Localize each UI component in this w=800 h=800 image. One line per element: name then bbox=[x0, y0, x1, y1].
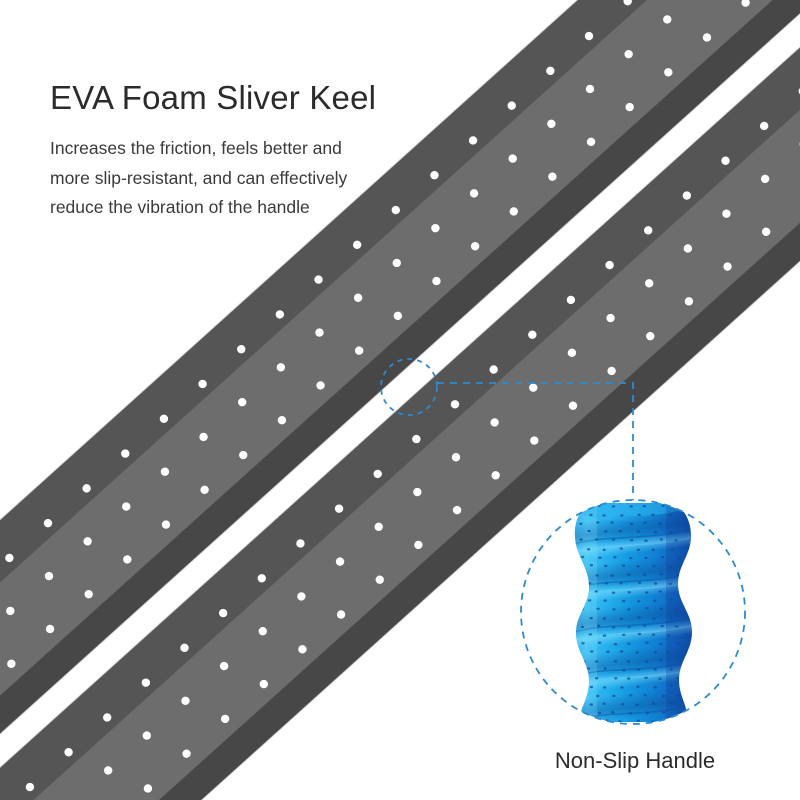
grip-pinhole bbox=[604, 565, 607, 567]
grip-pinhole bbox=[610, 521, 613, 523]
grip-pinhole bbox=[581, 505, 584, 507]
grip-pinhole bbox=[654, 582, 657, 584]
grip-pinhole bbox=[644, 557, 647, 559]
description-line-2: more slip-resistant, and can effectively bbox=[50, 164, 470, 194]
grip-pinhole bbox=[659, 608, 662, 610]
grip-pinhole bbox=[612, 538, 615, 540]
grip-pinhole bbox=[682, 668, 685, 670]
grip-pinhole bbox=[652, 617, 655, 619]
grip-pinhole bbox=[590, 617, 593, 619]
grip-pinhole bbox=[603, 686, 606, 688]
grip-pinhole bbox=[644, 694, 647, 696]
grip-pinhole bbox=[606, 651, 609, 653]
grip-pinhole bbox=[684, 599, 687, 601]
grip-pinhole bbox=[646, 712, 649, 714]
grip-pinhole bbox=[596, 608, 599, 610]
grip-pinhole bbox=[653, 686, 656, 688]
grip-pinhole bbox=[627, 677, 630, 679]
grip-pinhole bbox=[636, 565, 639, 567]
grip-pinhole bbox=[579, 523, 582, 525]
grip-pinhole bbox=[637, 549, 640, 551]
grip-pinhole bbox=[670, 599, 673, 601]
grip-pinhole bbox=[602, 703, 605, 705]
grip-pinhole bbox=[659, 590, 662, 592]
grip-pinhole bbox=[620, 618, 623, 620]
grip-pinhole bbox=[660, 538, 663, 540]
grip-pinhole bbox=[581, 556, 584, 558]
grip-pinhole bbox=[684, 652, 687, 654]
grip-pinhole bbox=[579, 695, 582, 697]
grip-pinhole bbox=[630, 505, 633, 507]
grip-pinhole bbox=[588, 582, 591, 584]
grip-pinhole bbox=[645, 642, 648, 644]
grip-pinhole bbox=[676, 677, 679, 679]
grip-pinhole bbox=[630, 523, 633, 525]
grip-pinhole bbox=[652, 549, 655, 551]
grip-pinhole bbox=[670, 702, 673, 704]
grip-pinhole bbox=[637, 720, 640, 722]
grip-pinhole bbox=[580, 591, 583, 593]
grip-pinhole bbox=[683, 702, 686, 704]
grip-pinhole bbox=[598, 712, 601, 714]
grip-pinhole bbox=[604, 530, 607, 532]
magnified-handle-group bbox=[521, 495, 745, 735]
grip-pinhole bbox=[638, 582, 641, 584]
grip-pinhole bbox=[596, 695, 599, 697]
grip-pinhole bbox=[652, 634, 655, 636]
grip-pinhole bbox=[612, 695, 615, 697]
grip-pinhole bbox=[620, 514, 623, 516]
grip-pinhole bbox=[670, 720, 673, 722]
grip-pinhole bbox=[603, 617, 606, 619]
grip-pinhole bbox=[618, 720, 621, 722]
grip-pinhole bbox=[614, 643, 617, 645]
feature-description: Increases the friction, feels better and… bbox=[50, 134, 470, 223]
grip-pinhole bbox=[683, 720, 686, 722]
grip-pinhole bbox=[637, 600, 640, 602]
grip-pinhole bbox=[636, 686, 639, 688]
grip-pinhole bbox=[620, 547, 623, 549]
grip-pinhole bbox=[580, 608, 583, 610]
grip-pinhole bbox=[637, 530, 640, 532]
grip-pinhole bbox=[598, 557, 601, 559]
grip-pinhole bbox=[678, 590, 681, 592]
grip-pinhole bbox=[619, 582, 622, 584]
grip-pinhole bbox=[685, 686, 688, 688]
grip-pinhole bbox=[645, 661, 648, 663]
grip-pinhole bbox=[587, 530, 590, 532]
grip-pinhole bbox=[603, 599, 606, 601]
grip-pinhole bbox=[581, 642, 584, 644]
grip-pinhole bbox=[590, 650, 593, 652]
grip-pinhole bbox=[662, 711, 665, 713]
grip-pinhole bbox=[645, 591, 648, 593]
grip-pinhole bbox=[643, 505, 646, 507]
grip-pinhole bbox=[595, 590, 598, 592]
grip-pinhole bbox=[676, 642, 679, 644]
grip-pinhole bbox=[653, 600, 656, 602]
grip-pinhole bbox=[637, 669, 640, 671]
grip-pinhole bbox=[629, 557, 632, 559]
grip-pinhole bbox=[670, 548, 673, 550]
grip-pinhole bbox=[678, 557, 681, 559]
description-line-3: reduce the vibration of the handle bbox=[50, 193, 470, 223]
feature-text-block: EVA Foam Sliver Keel Increases the frict… bbox=[50, 78, 470, 223]
grip-pinhole bbox=[579, 538, 582, 540]
grip-pinhole bbox=[627, 574, 630, 576]
grip-pinhole bbox=[613, 556, 616, 558]
grip-pinhole bbox=[627, 626, 630, 628]
grip-pinhole bbox=[670, 617, 673, 619]
grip-pinhole bbox=[602, 514, 605, 516]
grip-pinhole bbox=[611, 711, 614, 713]
grip-pinhole bbox=[676, 574, 679, 576]
grip-pinhole bbox=[619, 530, 622, 532]
grip-pinhole bbox=[603, 667, 606, 669]
grip-pinhole bbox=[603, 634, 606, 636]
grip-pinhole bbox=[674, 539, 677, 541]
grip-pinhole bbox=[661, 556, 664, 558]
grip-pinhole bbox=[669, 583, 672, 585]
grip-pinhole bbox=[622, 669, 625, 671]
grip-pinhole bbox=[644, 677, 647, 679]
grip-pinhole bbox=[683, 565, 686, 567]
blue-handle-grip bbox=[549, 495, 722, 735]
grip-pinhole bbox=[678, 504, 681, 506]
grip-pinhole bbox=[620, 650, 623, 652]
page-title: EVA Foam Sliver Keel bbox=[50, 78, 470, 118]
grip-pinhole bbox=[612, 626, 615, 628]
grip-pinhole bbox=[654, 651, 657, 653]
grip-pinhole bbox=[589, 514, 592, 516]
grip-pinhole bbox=[686, 547, 689, 549]
grip-pinhole bbox=[643, 521, 646, 523]
grip-pinhole bbox=[675, 625, 678, 627]
grip-pinhole bbox=[620, 686, 623, 688]
grip-pinhole bbox=[610, 574, 613, 576]
grip-pinhole bbox=[658, 678, 661, 680]
grip-pinhole bbox=[678, 659, 681, 661]
grip-pinhole bbox=[629, 712, 632, 714]
grip-pinhole bbox=[683, 616, 686, 618]
grip-pinhole bbox=[659, 659, 662, 661]
grip-pinhole bbox=[676, 522, 679, 524]
handle-caption: Non-Slip Handle bbox=[500, 748, 770, 774]
grip-pinhole bbox=[678, 711, 681, 713]
grip-pinhole bbox=[589, 720, 592, 722]
grip-pinhole bbox=[684, 513, 687, 515]
grip-pinhole bbox=[612, 505, 615, 507]
grip-pinhole bbox=[667, 634, 670, 636]
grip-pinhole bbox=[627, 660, 630, 662]
grip-pinhole bbox=[636, 651, 639, 653]
grip-pinhole bbox=[589, 633, 592, 635]
grip-pinhole bbox=[595, 538, 598, 540]
grip-pinhole bbox=[652, 703, 655, 705]
grip-pinhole bbox=[651, 514, 654, 516]
grip-pinhole bbox=[582, 661, 585, 663]
spiral-ribs bbox=[549, 507, 722, 726]
grip-pinhole bbox=[636, 704, 639, 706]
grip-pinhole bbox=[677, 694, 680, 696]
grip-pinhole bbox=[595, 574, 598, 576]
grip-pinhole bbox=[658, 522, 661, 524]
grip-pinhole bbox=[587, 548, 590, 550]
grip-pinhole bbox=[622, 600, 625, 602]
grip-pinhole bbox=[659, 643, 662, 645]
grip-pinhole bbox=[588, 599, 591, 601]
grip-pinhole bbox=[675, 608, 678, 610]
grip-pinhole bbox=[598, 642, 601, 644]
grip-pinhole bbox=[590, 564, 593, 566]
grip-pinhole bbox=[685, 633, 688, 635]
grip-pinhole bbox=[652, 565, 655, 567]
grip-pinhole bbox=[661, 625, 664, 627]
grip-pinhole bbox=[684, 530, 687, 532]
grip-pinhole bbox=[630, 539, 633, 541]
grip-pinhole bbox=[581, 574, 584, 576]
grip-pinhole bbox=[638, 616, 641, 618]
grip-pinhole bbox=[587, 667, 590, 669]
grip-pinhole bbox=[628, 591, 631, 593]
grip-pinhole bbox=[596, 521, 599, 523]
grip-pinhole bbox=[590, 686, 593, 688]
grip-pinhole bbox=[605, 582, 608, 584]
grip-pinhole bbox=[669, 514, 672, 516]
grip-pinhole bbox=[582, 676, 585, 678]
grip-pinhole bbox=[684, 583, 687, 585]
grip-pinhole bbox=[622, 565, 625, 567]
grip-pinhole bbox=[603, 549, 606, 551]
grip-pinhole bbox=[629, 694, 632, 696]
grip-pinhole bbox=[644, 540, 647, 542]
grip-pinhole bbox=[612, 608, 615, 610]
grip-pinhole bbox=[669, 566, 672, 568]
grip-pinhole bbox=[662, 695, 665, 697]
grip-pinhole bbox=[590, 703, 593, 705]
grip-pinhole bbox=[614, 660, 617, 662]
grip-pinhole bbox=[627, 608, 630, 610]
grip-pinhole bbox=[595, 660, 598, 662]
grip-pinhole bbox=[670, 531, 673, 533]
grip-pinhole bbox=[637, 514, 640, 516]
grip-pinhole bbox=[622, 634, 625, 636]
grip-pinhole bbox=[621, 703, 624, 705]
grip-pinhole bbox=[638, 633, 641, 635]
grip-pinhole bbox=[614, 677, 617, 679]
product-feature-image: EVA Foam Sliver Keel Increases the frict… bbox=[0, 0, 800, 800]
description-line-1: Increases the friction, feels better and bbox=[50, 134, 470, 164]
grip-pinhole bbox=[597, 625, 600, 627]
grip-pinhole bbox=[667, 651, 670, 653]
grip-pinhole bbox=[670, 668, 673, 670]
grip-pinhole bbox=[670, 685, 673, 687]
grip-pinhole bbox=[654, 531, 657, 533]
grip-pinhole bbox=[595, 677, 598, 679]
grip-pinhole bbox=[643, 574, 646, 576]
grip-pinhole bbox=[612, 592, 615, 594]
grip-pinhole bbox=[654, 668, 657, 670]
grip-pinhole bbox=[627, 643, 630, 645]
grip-pinhole bbox=[645, 607, 648, 609]
grip-pinhole bbox=[581, 626, 584, 628]
grip-pinhole bbox=[643, 625, 646, 627]
grip-pinhole bbox=[659, 573, 662, 575]
